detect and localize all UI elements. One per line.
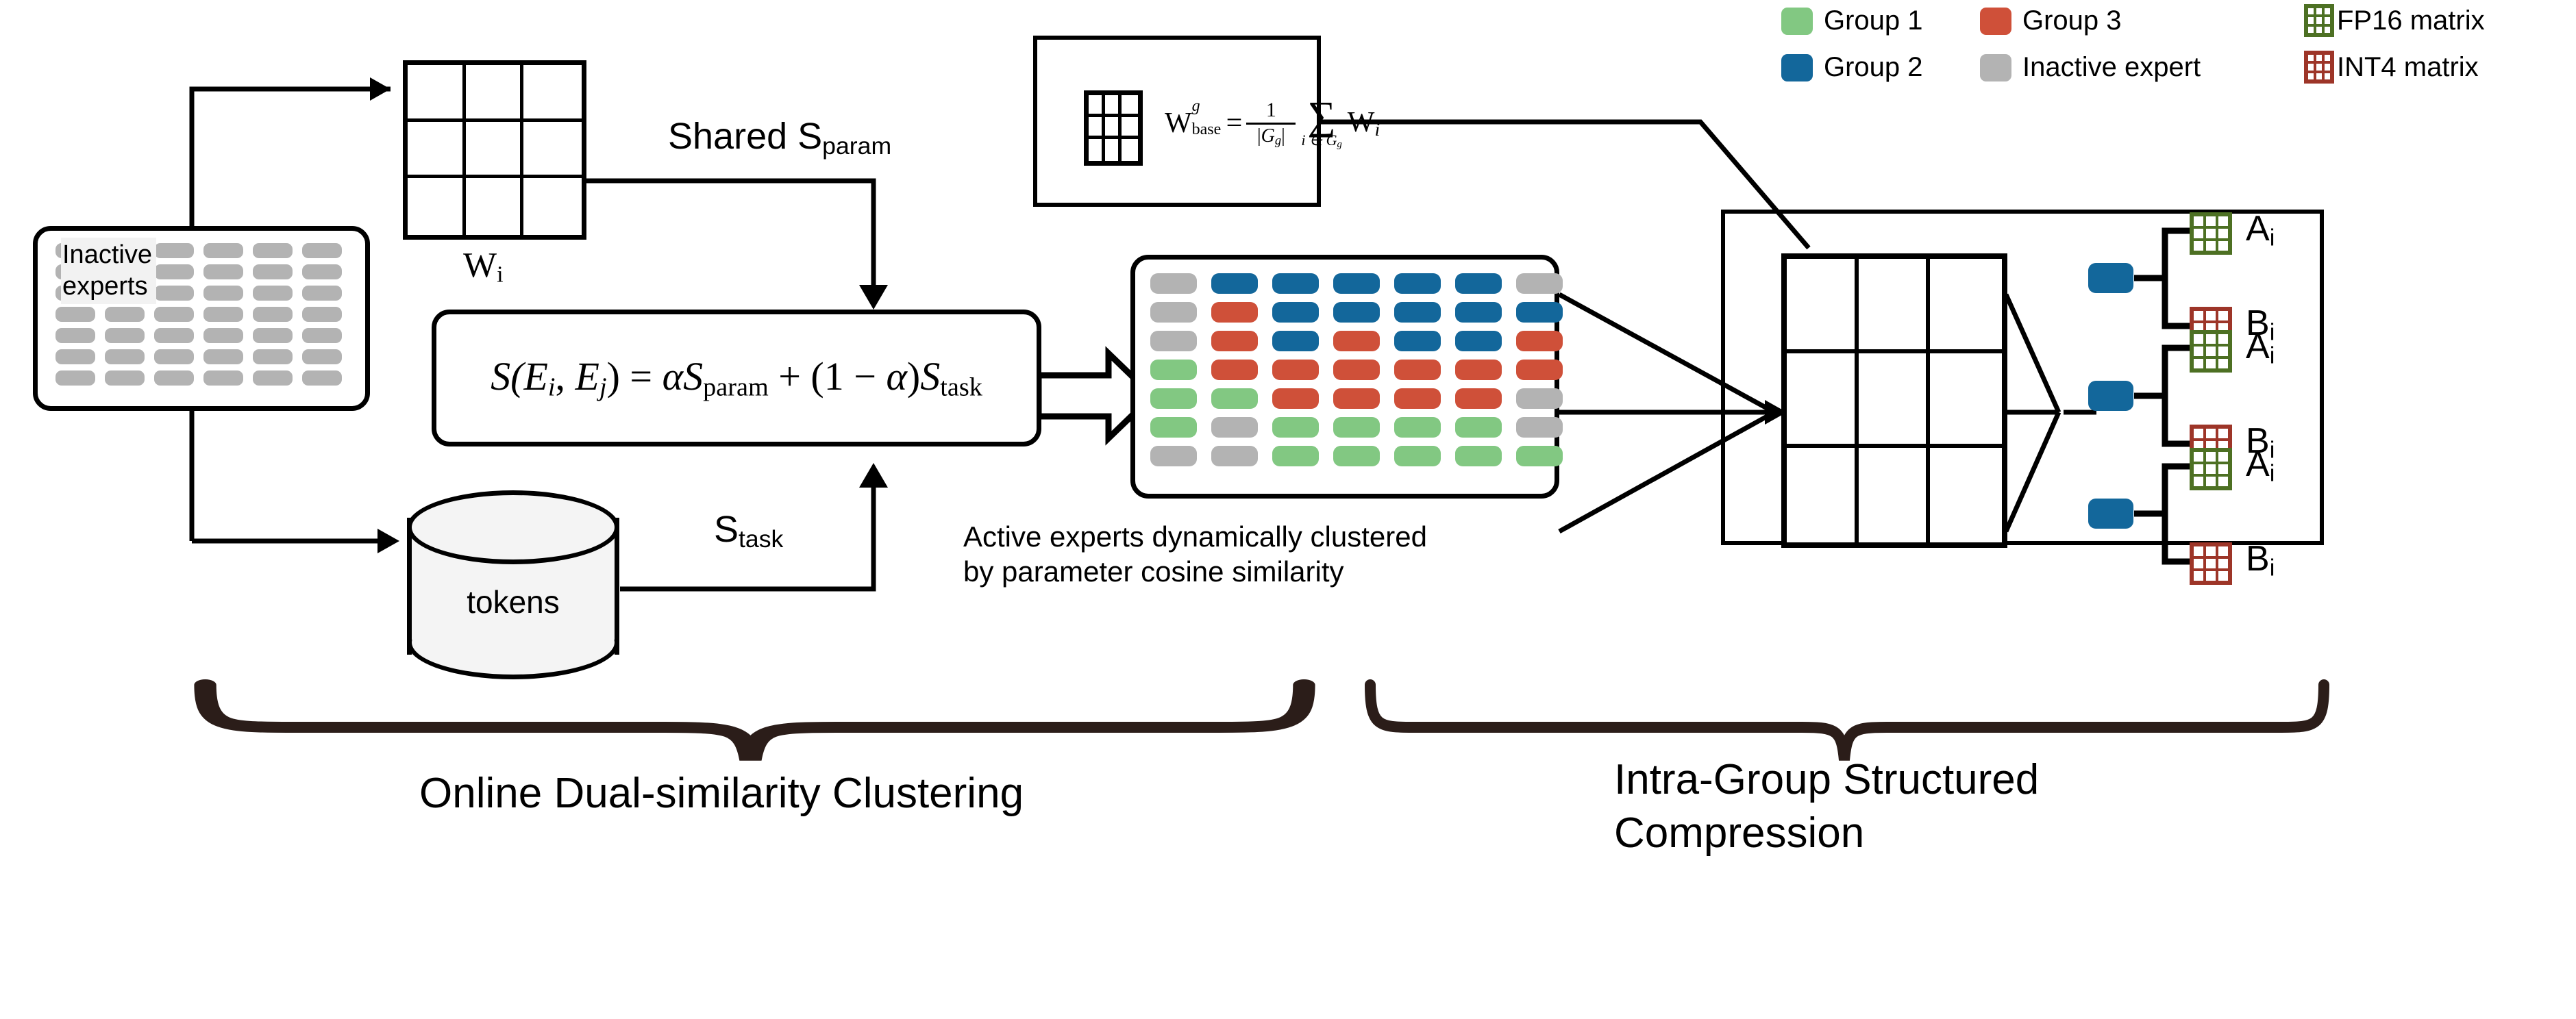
inactive-expert-swatch [1980, 54, 2011, 81]
active-expert-cell [1272, 417, 1319, 438]
active-expert-cell [1211, 388, 1258, 409]
active-expert-cell [1211, 360, 1258, 380]
active-expert-cell [1333, 273, 1380, 294]
active-expert-cell [1394, 446, 1441, 466]
inactive-expert-cell [302, 370, 342, 386]
expert-weight-matrix [403, 60, 586, 240]
weight-matrix-i: i [497, 262, 504, 288]
base-formula-eq: = [1226, 107, 1243, 140]
active-expert-cell [1150, 446, 1197, 466]
active-expert-cell [1394, 273, 1441, 294]
active-expert-cell [1333, 360, 1380, 380]
base-formula-superscript: g [1192, 97, 1200, 116]
similarity-s1-sub: param [703, 373, 769, 402]
inactive-expert-cell [154, 370, 194, 386]
base-formula-w2: W [1348, 107, 1375, 138]
active-expert-cell [1150, 273, 1197, 294]
legend-item-inactive-expert: Inactive expert [1980, 52, 2201, 83]
inactive-expert-cell [105, 349, 145, 364]
inactive-expert-cell [154, 264, 194, 279]
active-expert-cell [1272, 446, 1319, 466]
base-formula-sigma-sub-gsub: g [1337, 140, 1342, 151]
inactive-expert-cell [253, 349, 293, 364]
inactive-expert-cell [302, 328, 342, 343]
base-formula-den-sub: g [1275, 134, 1281, 147]
inactive-expert-cell [203, 307, 243, 322]
base-weight-formula: Wgbase = 1 |Gg| ∑ i ∈ Gg Wi [1165, 97, 1380, 150]
active-expert-cell [1455, 446, 1502, 466]
a-label-sub: i [2270, 461, 2275, 487]
group-3-swatch [1980, 8, 2011, 35]
fp16-matrix-icon [2304, 4, 2334, 37]
active-expert-cell [1516, 331, 1563, 351]
base-formula-den-g: G [1261, 125, 1275, 147]
base-formula-sigma-sub-i: i ∈ [1301, 131, 1326, 149]
inactive-experts-label: Inactive experts [61, 238, 156, 304]
active-expert-cell [1211, 273, 1258, 294]
stage-label-left: Online Dual-similarity Clustering [419, 768, 1024, 818]
group-2-swatch [1781, 54, 1813, 81]
active-expert-cell [1150, 417, 1197, 438]
base-formula-den-close: | [1281, 125, 1285, 147]
legend-item-int4-matrix: INT4 matrix [2304, 51, 2479, 84]
legend-item-label: Group 1 [1824, 5, 1923, 36]
base-formula-numerator: 1 [1266, 100, 1276, 121]
active-expert-cell [1211, 417, 1258, 438]
a-label-sub: i [2270, 343, 2275, 369]
inactive-expert-cell [55, 349, 95, 364]
similarity-plus: + (1 − [769, 354, 887, 399]
b-matrix-label: Bi [2246, 538, 2275, 582]
base-formula-w: W [1165, 108, 1192, 139]
inactive-expert-cell [105, 307, 145, 322]
inactive-expert-cell [154, 349, 194, 364]
shared-sparam-text: Shared S [668, 116, 822, 157]
fp16-matrix-icon [2190, 448, 2232, 490]
inactive-expert-cell [302, 286, 342, 301]
active-expert-cell [1455, 302, 1502, 323]
legend-item-label: Inactive expert [2022, 52, 2201, 83]
similarity-alpha: α [662, 354, 683, 399]
a-label-sub: i [2270, 225, 2275, 251]
similarity-comma: , [556, 354, 575, 399]
active-expert-cell [1272, 388, 1319, 409]
b-label-sub: i [2270, 555, 2275, 581]
fraction-bar [1246, 123, 1296, 125]
inactive-expert-cell [253, 286, 293, 301]
active-expert-cell [1455, 388, 1502, 409]
similarity-alpha2: α [886, 354, 906, 399]
legend-item-label: Group 3 [2022, 5, 2122, 36]
similarity-ej-sub: j [599, 373, 607, 402]
active-experts-caption-line2: by parameter cosine similarity [963, 554, 1427, 589]
similarity-formula: S(Ei, Ej) = αSparam + (1 − α)Stask [491, 353, 982, 402]
inactive-expert-cell [203, 286, 243, 301]
active-expert-cell [1516, 417, 1563, 438]
a-matrix-label: Ai [2246, 444, 2275, 488]
active-expert-cell [1394, 302, 1441, 323]
a-matrix-label: Ai [2246, 208, 2275, 252]
active-expert-cell [1272, 302, 1319, 323]
inactive-experts-label-line1: Inactive [62, 239, 152, 271]
similarity-ej: E [575, 354, 599, 399]
active-expert-cell [1516, 302, 1563, 323]
active-expert-cell [1516, 360, 1563, 380]
tokens-cylinder: tokens [404, 488, 622, 683]
active-expert-cell [1455, 360, 1502, 380]
inactive-expert-cell [302, 264, 342, 279]
compression-expert-pill [2088, 499, 2133, 529]
active-expert-cell [1150, 331, 1197, 351]
tokens-label: tokens [404, 583, 622, 620]
active-expert-cell [1272, 360, 1319, 380]
inactive-expert-cell [253, 370, 293, 386]
similarity-formula-box: S(Ei, Ej) = αSparam + (1 − α)Stask [432, 310, 1041, 446]
similarity-lhs: S( [491, 354, 523, 399]
inactive-expert-cell [253, 243, 293, 258]
inactive-expert-cell [154, 328, 194, 343]
inactive-expert-cell [302, 243, 342, 258]
legend-item-group-2: Group 2 [1781, 52, 1923, 83]
active-expert-cell [1455, 417, 1502, 438]
inactive-expert-cell [302, 307, 342, 322]
stage-label-right-line1: Intra-Group Structured [1614, 753, 2039, 807]
active-expert-cell [1211, 446, 1258, 466]
shared-sparam-subscript: param [822, 132, 891, 160]
active-expert-cell [1455, 331, 1502, 351]
active-expert-cell [1516, 446, 1563, 466]
base-weight-formula-box: Wgbase = 1 |Gg| ∑ i ∈ Gg Wi [1033, 36, 1321, 207]
inactive-expert-cell [203, 370, 243, 386]
active-expert-cell [1394, 331, 1441, 351]
active-expert-cell [1333, 302, 1380, 323]
inactive-expert-cell [55, 307, 95, 322]
legend-item-group-3: Group 3 [1980, 5, 2122, 36]
similarity-s2-sub: task [940, 373, 982, 402]
int4-matrix-icon [2190, 542, 2232, 585]
similarity-s2: S [920, 354, 940, 399]
inactive-expert-cell [154, 243, 194, 258]
legend-item-label: FP16 matrix [2337, 5, 2485, 36]
similarity-eq: ) = [607, 354, 662, 399]
inactive-expert-cell [253, 264, 293, 279]
active-expert-cell [1333, 417, 1380, 438]
active-expert-cell [1394, 360, 1441, 380]
base-formula-w2-sub: i [1374, 118, 1380, 140]
stask-text: S [714, 509, 739, 550]
fp16-matrix-icon [2190, 212, 2232, 255]
inactive-expert-cell [302, 349, 342, 364]
inactive-experts-box: Inactive experts [33, 226, 370, 411]
a-label: A [2246, 444, 2270, 484]
inactive-expert-cell [203, 243, 243, 258]
inactive-expert-cell [105, 370, 145, 386]
inactive-expert-cell [203, 328, 243, 343]
similarity-close: ) [907, 354, 920, 399]
active-expert-cell [1516, 388, 1563, 409]
inactive-experts-label-line2: experts [62, 271, 152, 302]
active-expert-cell [1516, 273, 1563, 294]
a-label: A [2246, 209, 2270, 249]
inactive-expert-cell [105, 328, 145, 343]
active-expert-cell [1333, 446, 1380, 466]
group-1-swatch [1781, 8, 1813, 35]
stage-label-right: Intra-Group Structured Compression [1614, 753, 2039, 859]
active-expert-cell [1272, 331, 1319, 351]
similarity-ei-sub: i [548, 373, 556, 402]
active-experts-grid [1150, 273, 1563, 466]
base-formula-subscript: base [1192, 121, 1222, 139]
legend-item-group-1: Group 1 [1781, 5, 1923, 36]
inactive-expert-cell [203, 349, 243, 364]
active-expert-cell [1150, 388, 1197, 409]
compression-expert-pill [2088, 263, 2133, 293]
inactive-expert-cell [55, 370, 95, 386]
int4-matrix-icon [2304, 51, 2334, 84]
inactive-expert-cell [253, 307, 293, 322]
active-expert-cell [1394, 417, 1441, 438]
active-experts-box [1130, 255, 1559, 499]
legend: Group 1 Group 3 FP16 matrix Group 2 Inac… [1781, 3, 2569, 92]
active-expert-cell [1211, 331, 1258, 351]
active-experts-caption: Active experts dynamically clustered by … [963, 519, 1427, 589]
base-formula-sigma-sub-g: G [1326, 131, 1337, 149]
expert-weight-matrix-caption: Wi [463, 245, 504, 288]
active-expert-cell [1150, 360, 1197, 380]
group-base-matrix [1781, 253, 2007, 548]
a-label: A [2246, 327, 2270, 366]
b-label: B [2246, 539, 2270, 579]
weight-matrix-w: W [463, 246, 497, 285]
compression-expert-pill [2088, 381, 2133, 411]
a-matrix-label: Ai [2246, 326, 2275, 370]
fp16-matrix-icon [2190, 330, 2232, 373]
active-expert-cell [1394, 388, 1441, 409]
legend-item-fp16-matrix: FP16 matrix [2304, 4, 2485, 37]
shared-sparam-label: Shared Sparam [668, 115, 891, 160]
similarity-ei: E [523, 354, 547, 399]
active-expert-cell [1211, 302, 1258, 323]
inactive-expert-cell [154, 307, 194, 322]
active-expert-cell [1333, 388, 1380, 409]
inactive-expert-cell [55, 328, 95, 343]
diagram-canvas: Group 1 Group 3 FP16 matrix Group 2 Inac… [0, 0, 2576, 1019]
similarity-s1: S [683, 354, 703, 399]
cylinder-top [407, 490, 619, 564]
inactive-expert-cell [253, 328, 293, 343]
active-expert-cell [1272, 273, 1319, 294]
base-formula-sigma: ∑ [1307, 97, 1335, 134]
active-expert-cell [1333, 331, 1380, 351]
stask-label: Stask [714, 508, 783, 553]
active-expert-cell [1150, 302, 1197, 323]
stage-label-right-line2: Compression [1614, 807, 2039, 860]
active-experts-caption-line1: Active experts dynamically clustered [963, 519, 1427, 554]
legend-item-label: INT4 matrix [2337, 52, 2479, 83]
base-weight-matrix-icon [1084, 90, 1143, 166]
stask-subscript: task [739, 525, 783, 553]
legend-item-label: Group 2 [1824, 52, 1923, 83]
inactive-expert-cell [203, 264, 243, 279]
active-expert-cell [1455, 273, 1502, 294]
inactive-expert-cell [154, 286, 194, 301]
